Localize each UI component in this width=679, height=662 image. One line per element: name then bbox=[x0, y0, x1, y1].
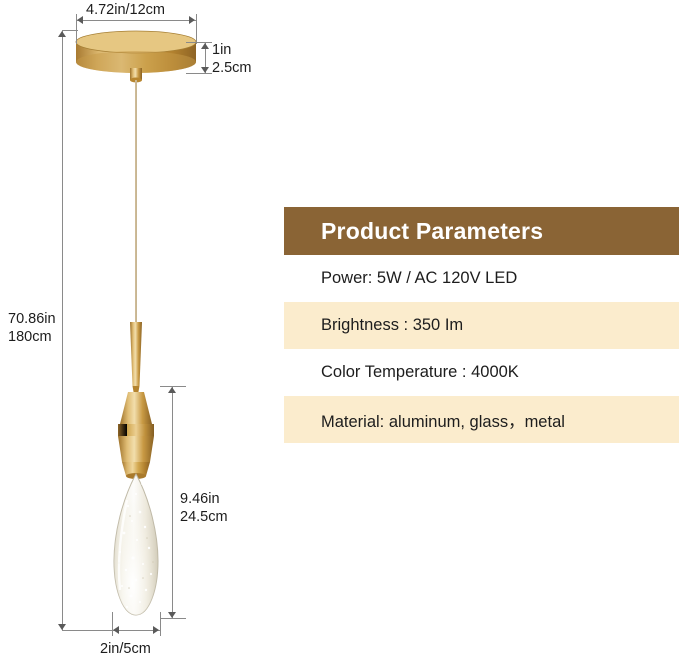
arrow-top-right bbox=[189, 16, 195, 24]
guide-top-width bbox=[76, 20, 196, 21]
param-row-power: Power: 5W / AC 120V LED bbox=[284, 255, 679, 302]
dimension-drop-height: 9.46in 24.5cm bbox=[180, 491, 228, 526]
suspension-cable bbox=[135, 80, 137, 323]
guide-canopy-lower bbox=[186, 73, 212, 74]
param-text: Brightness : 350 Im bbox=[321, 316, 463, 335]
product-parameters-panel: Product Parameters Power: 5W / AC 120V L… bbox=[284, 207, 679, 443]
dimension-total-length: 70.86in 180cm bbox=[8, 311, 56, 346]
param-text: Color Temperature : 4000K bbox=[321, 363, 519, 382]
guide-top-right bbox=[196, 14, 197, 44]
product-parameters-header: Product Parameters bbox=[284, 207, 679, 255]
arrow-canopy-down bbox=[201, 67, 209, 73]
guide-bottom-right bbox=[160, 612, 161, 636]
arrow-total-down bbox=[58, 624, 66, 630]
dimension-bottom-width: 2in/5cm bbox=[100, 641, 151, 659]
arrow-top-left bbox=[77, 16, 83, 24]
dimension-canopy-height: 1in 2.5cm bbox=[212, 42, 252, 77]
diagram-canvas: 4.72in/12cm 1in 2.5cm 70.86in 180cm 9.46… bbox=[0, 0, 679, 662]
arrow-total-up bbox=[58, 31, 66, 37]
param-text: Power: 5W / AC 120V LED bbox=[321, 269, 517, 288]
product-parameters-title: Product Parameters bbox=[321, 218, 543, 245]
guide-total-vert bbox=[62, 30, 63, 630]
crystal-glass-teardrop bbox=[114, 474, 158, 615]
guide-total-bottom bbox=[62, 630, 112, 631]
param-row-material: Material: aluminum, glass，metal bbox=[284, 396, 679, 443]
brass-body bbox=[118, 392, 154, 479]
dimension-top-width: 4.72in/12cm bbox=[86, 2, 165, 20]
arrow-drop-up bbox=[168, 387, 176, 393]
param-text: Material: aluminum, glass，metal bbox=[321, 408, 565, 432]
guide-drop-bottom bbox=[160, 618, 186, 619]
param-row-brightness: Brightness : 350 Im bbox=[284, 302, 679, 349]
arrow-bottom-right bbox=[153, 626, 159, 634]
arrow-drop-down bbox=[168, 612, 176, 618]
guide-drop-vert bbox=[172, 386, 173, 618]
ceiling-canopy bbox=[76, 31, 196, 83]
arrow-canopy-up bbox=[201, 43, 209, 49]
param-row-color-temperature: Color Temperature : 4000K bbox=[284, 349, 679, 396]
arrow-bottom-left bbox=[113, 626, 119, 634]
